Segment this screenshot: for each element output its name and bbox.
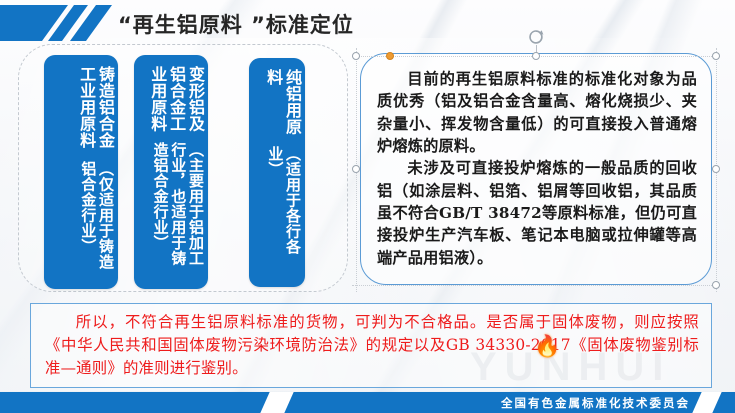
card-sub-label: （适用于各行各业） bbox=[266, 146, 301, 276]
page-title: “再生铝原料 ”标准定位 bbox=[118, 9, 354, 39]
card-casting-aluminum-alloy[interactable]: 铸造铝合金工业用原料 （仅适用于铸造铝合金行业） bbox=[44, 55, 118, 289]
card-pure-aluminum[interactable]: 纯铝用原料 （适用于各行各业） bbox=[249, 58, 305, 287]
body-paragraph-2: 未涉及可直接投炉熔炼的一般品质的回收铝（如涂层料、铝箔、铝屑等回收铝，其品质虽不… bbox=[377, 157, 697, 269]
resize-handle-middle-right[interactable] bbox=[712, 165, 720, 173]
resize-handle-top-left-active[interactable] bbox=[386, 52, 394, 60]
footer-bar: 全国有色金属标准化技术委员会 bbox=[0, 392, 735, 413]
body-textbox[interactable]: 目前的再生铝原料标准的标准化对象为品质优秀（铝及铝合金含量高、熔化烧损少、夹杂量… bbox=[360, 53, 712, 285]
body-paragraph-1: 目前的再生铝原料标准的标准化对象为品质优秀（铝及铝合金含量高、熔化烧损少、夹杂量… bbox=[377, 68, 697, 157]
resize-handle-top-right[interactable] bbox=[712, 52, 720, 60]
card-sub-label: （仅适用于铸造铝合金行业） bbox=[79, 161, 114, 278]
card-main-label: 铸造铝合金工业用原料 bbox=[76, 66, 114, 161]
resize-handle-bottom-right[interactable] bbox=[712, 281, 720, 289]
footer-organization-label: 全国有色金属标准化技术委员会 bbox=[501, 392, 690, 413]
conclusion-text: 所以，不符合再生铝原料标准的货物，可判为不合格品。是否属于固体废物，则应按照《中… bbox=[45, 311, 699, 380]
card-main-label: 变形铝及铝合金工业用原料 bbox=[147, 66, 204, 142]
resize-handle-top-center[interactable] bbox=[532, 52, 540, 60]
rotate-handle-icon[interactable] bbox=[528, 29, 545, 46]
blue-parallelogram-mark-icon bbox=[0, 5, 112, 41]
card-main-label: 纯铝用原料 bbox=[263, 69, 301, 146]
slide-canvas: YUNHUI “再生铝原料 ”标准定位 铸造铝合金工业用原料 （仅适用于铸造铝合… bbox=[0, 0, 735, 413]
resize-handle-outer-top-left[interactable] bbox=[352, 52, 360, 60]
card-wrought-aluminum-alloy[interactable]: 变形铝及铝合金工业用原料 （主要用于铝加工行业，也适用于铸造铝合金行业） bbox=[134, 55, 208, 289]
card-sub-label: （主要用于铝加工行业，也适用于铸造铝合金行业） bbox=[151, 142, 204, 278]
resize-handle-middle-left[interactable] bbox=[352, 165, 360, 173]
footer-notch-left bbox=[260, 392, 293, 413]
conclusion-textbox[interactable]: 所以，不符合再生铝原料标准的货物，可判为不合格品。是否属于固体废物，则应按照《中… bbox=[30, 303, 712, 388]
selection-guide-bottom bbox=[352, 285, 720, 286]
footer-notch-right bbox=[692, 392, 721, 413]
